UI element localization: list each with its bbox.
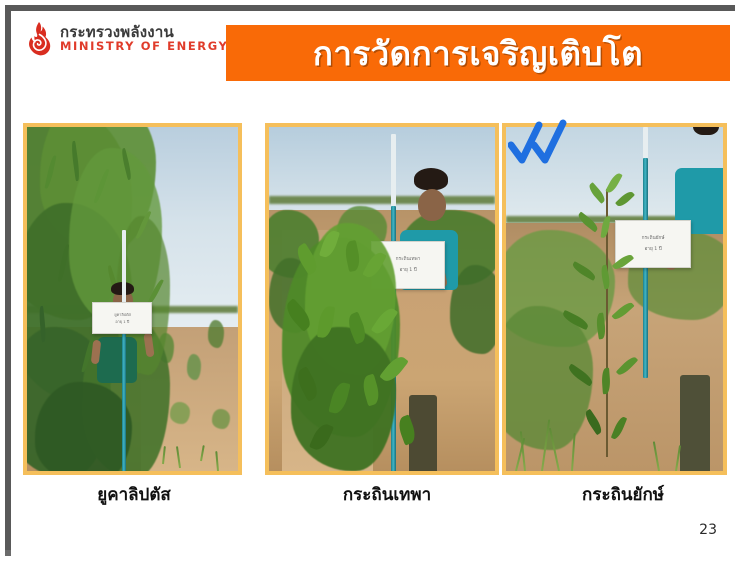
photo-captions: ยูคาลิปตัส กระถินเทพา กระถินยักษ์ [23, 481, 727, 515]
photo-3-sign-line1: กระถินยักษ์ [641, 235, 664, 243]
ministry-logo: กระทรวงพลังงาน MINISTRY OF ENERGY [23, 21, 228, 57]
page-title: การวัดการเจริญเติบโต [313, 37, 643, 70]
page-number: 23 [699, 522, 717, 538]
slide-canvas: กระทรวงพลังงาน MINISTRY OF ENERGY การวัด… [11, 11, 739, 560]
slide-title-banner: การวัดการเจริญเติบโต [226, 25, 730, 81]
photo-3-sign-line2: อายุ 1 ปี [644, 246, 661, 254]
photo-3-scene: กระถินยักษ์ อายุ 1 ปี [506, 127, 723, 471]
photo-1-scene: ยูคาลิปตัส อายุ 1 ปี [27, 127, 238, 471]
photo-2-acacia[interactable]: กระถินเทพา อายุ 1 ปี [265, 123, 500, 475]
photo-2-scene: กระถินเทพา อายุ 1 ปี [269, 127, 496, 471]
photo-2-sign-line1: กระถินเทพา [395, 255, 420, 263]
photo-1-label-sign: ยูคาลิปตัส อายุ 1 ปี [92, 302, 152, 334]
caption-photo-3: กระถินยักษ์ [509, 481, 737, 508]
photo-1-eucalyptus[interactable]: ยูคาลิปตัส อายุ 1 ปี [23, 123, 242, 475]
photo-1-sign-line2: อายุ 1 ปี [115, 319, 129, 326]
photo-2-sign-line2: อายุ 1 ปี [399, 266, 416, 274]
presentation-slide: กระทรวงพลังงาน MINISTRY OF ENERGY การวัด… [0, 0, 740, 561]
flame-swirl-icon [23, 21, 55, 57]
photo-3-leucaena[interactable]: กระถินยักษ์ อายุ 1 ปี [502, 123, 727, 475]
photo-gallery: ยูคาลิปตัส อายุ 1 ปี [23, 123, 727, 475]
logo-english-name: MINISTRY OF ENERGY [60, 41, 228, 53]
caption-photo-2: กระถินเทพา [268, 481, 506, 508]
caption-photo-1: ยูคาลิปตัส [23, 481, 245, 508]
logo-thai-name: กระทรวงพลังงาน [60, 25, 228, 40]
